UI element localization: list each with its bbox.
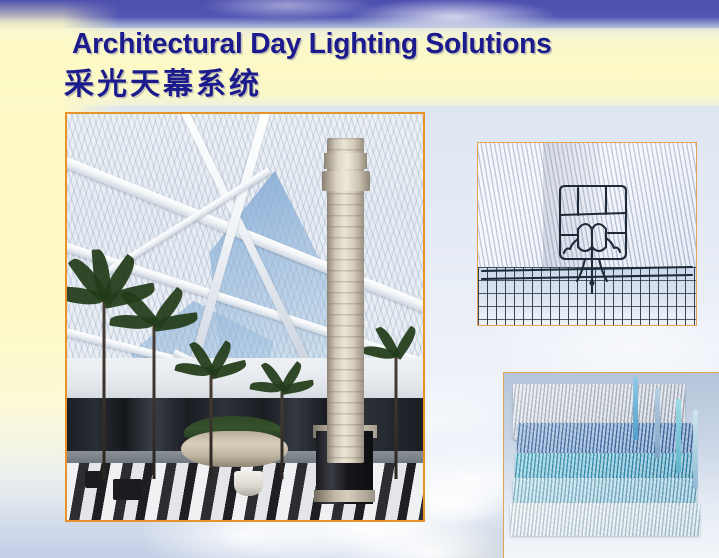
- sheet-corrugation: [510, 503, 699, 536]
- palm-tree: [152, 317, 155, 479]
- sheet-edge: [633, 376, 638, 440]
- connector-scene: [478, 143, 696, 325]
- atrium-skylight-photo[interactable]: [65, 112, 425, 522]
- palm-trunk: [281, 382, 284, 479]
- palm-tree: [395, 349, 398, 479]
- palm-trunk: [152, 317, 155, 479]
- presentation-slide: Architectural Day Lighting Solutions 采光天…: [0, 0, 719, 558]
- sheet-edge: [655, 387, 660, 458]
- sheet-edge: [676, 398, 681, 473]
- sheet-edge: [693, 409, 698, 488]
- column-base-band: [314, 490, 375, 502]
- bench: [85, 471, 103, 487]
- palm-tree: [281, 382, 284, 479]
- atrium-scene: [67, 114, 423, 520]
- palm-tree: [103, 293, 106, 480]
- bench: [113, 479, 141, 499]
- title-block: Architectural Day Lighting Solutions 采光天…: [0, 26, 719, 118]
- palm-trunk: [395, 349, 398, 479]
- palm-tree: [209, 366, 212, 480]
- polycarbonate-sheets-photo[interactable]: [503, 372, 719, 558]
- polycarbonate-sheet-opal: [510, 503, 699, 536]
- palm-trunk: [103, 293, 106, 480]
- connector-profile-photo[interactable]: [477, 142, 697, 326]
- floor-planter: [234, 471, 262, 495]
- h-profile-connector-diagram: [478, 143, 697, 326]
- palm-trunk: [209, 366, 212, 480]
- column-capital: [322, 171, 370, 191]
- stone-fountain: [181, 431, 288, 468]
- sheet-stack-scene: [504, 373, 719, 558]
- page-title-english: Architectural Day Lighting Solutions: [72, 30, 552, 59]
- page-title-chinese: 采光天幕系统: [64, 70, 262, 100]
- column-capital-upper: [324, 153, 367, 169]
